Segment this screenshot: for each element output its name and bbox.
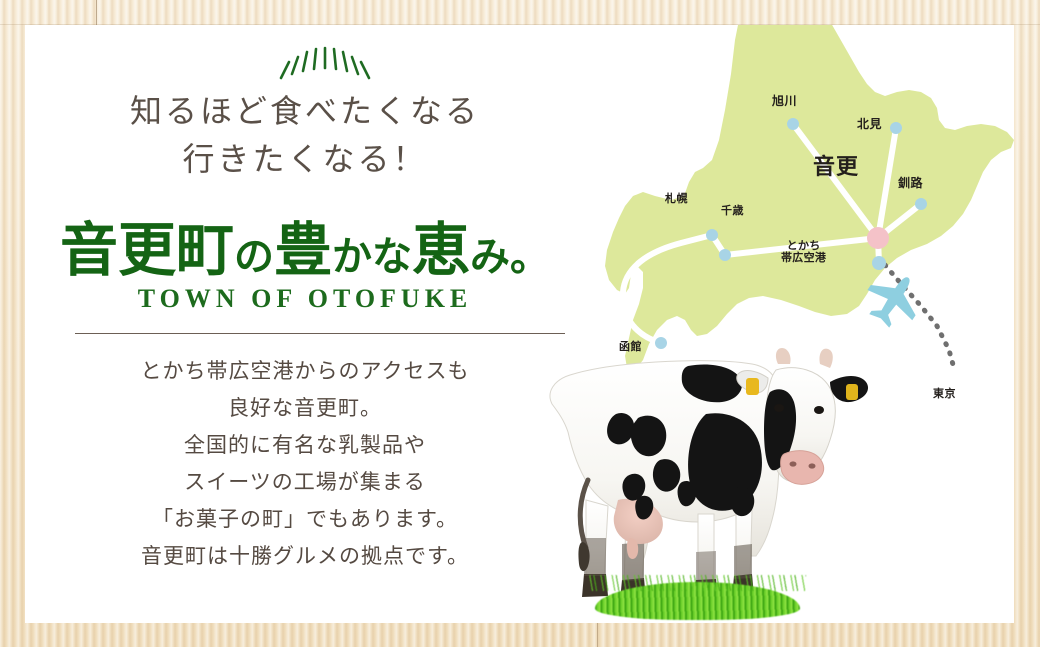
airport-name-line-1: とかち: [781, 240, 826, 252]
ear-tag-right: [846, 384, 858, 400]
city-dot-airport: [872, 256, 886, 270]
subtitle-line-1: 知るほど食べたくなる: [25, 87, 585, 135]
airport-name-line-2: 帯広空港: [781, 252, 826, 264]
city-dot-kitami: [890, 122, 902, 134]
cow-eye-right: [814, 406, 824, 414]
city-dot-sapporo: [706, 229, 718, 241]
cow-nostril-left: [790, 461, 797, 466]
cow-muzzle: [781, 451, 824, 485]
promo-card: 知るほど食べたくなる 行きたくなる！ 音更町の豊かな恵み。 TOWN OF OT…: [25, 25, 1014, 623]
wood-frame-bottom-seam: [597, 623, 598, 647]
page-title-part-2: 豊: [274, 216, 332, 284]
subtitle-line-2: 行きたくなる！: [25, 135, 585, 183]
text-column: 知るほど食べたくなる 行きたくなる！ 音更町の豊かな恵み。 TOWN OF OT…: [25, 25, 585, 623]
body-line-4: スイーツの工場が集まる: [25, 464, 585, 501]
sunburst-rays-icon: [270, 43, 380, 83]
body-line-1: とかち帯広空港からのアクセスも: [25, 353, 585, 390]
cow-eye-left: [774, 404, 784, 412]
page-title-part-3: かな: [332, 233, 412, 280]
page-title-part-1: の: [234, 233, 274, 280]
body-line-2: 良好な音更町。: [25, 390, 585, 427]
body-line-6: 音更町は十勝グルメの拠点です。: [25, 538, 585, 575]
page-title-part-5: み。: [470, 233, 550, 280]
map-label-chitose: 千歳: [721, 205, 744, 217]
subtitle-block: 知るほど食べたくなる 行きたくなる！: [25, 87, 585, 183]
page-title: 音更町の豊かな恵み。: [25, 203, 585, 287]
grass-patch: [595, 582, 800, 620]
city-dot-chitose: [719, 249, 731, 261]
map-label-tokyo: 東京: [933, 388, 956, 400]
map-label-asahikawa: 旭川: [772, 95, 797, 108]
map-label-airport: とかち 帯広空港: [781, 240, 826, 263]
city-dot-kushiro: [915, 198, 927, 210]
cow-photo: [530, 330, 910, 623]
page-title-part-4: 恵: [412, 216, 470, 284]
english-title: TOWN OF OTOFUKE: [25, 284, 585, 314]
page-title-part-0: 音更町: [60, 216, 234, 284]
map-label-kushiro: 釧路: [898, 177, 923, 190]
body-copy: とかち帯広空港からのアクセスも良好な音更町。全国的に有名な乳製品やスイーツの工場…: [25, 353, 585, 575]
city-dot-asahikawa: [787, 118, 799, 130]
cow-nostril-right: [809, 463, 816, 468]
cow-horn-left: [776, 348, 791, 364]
wood-frame-top-seam: [0, 0, 1040, 25]
map-label-otofuke: 音更: [813, 156, 859, 179]
divider: [75, 333, 565, 334]
body-line-3: 全国的に有名な乳製品や: [25, 427, 585, 464]
cow-horn-right: [819, 349, 832, 368]
body-line-5: 「お菓子の町」でもあります。: [25, 501, 585, 538]
ear-tag-left: [746, 378, 759, 395]
wood-frame-vertical-seam: [96, 0, 97, 25]
map-label-kitami: 北見: [857, 118, 882, 131]
city-dot-otofuke: [867, 227, 889, 249]
map-label-sapporo: 札幌: [665, 193, 688, 205]
